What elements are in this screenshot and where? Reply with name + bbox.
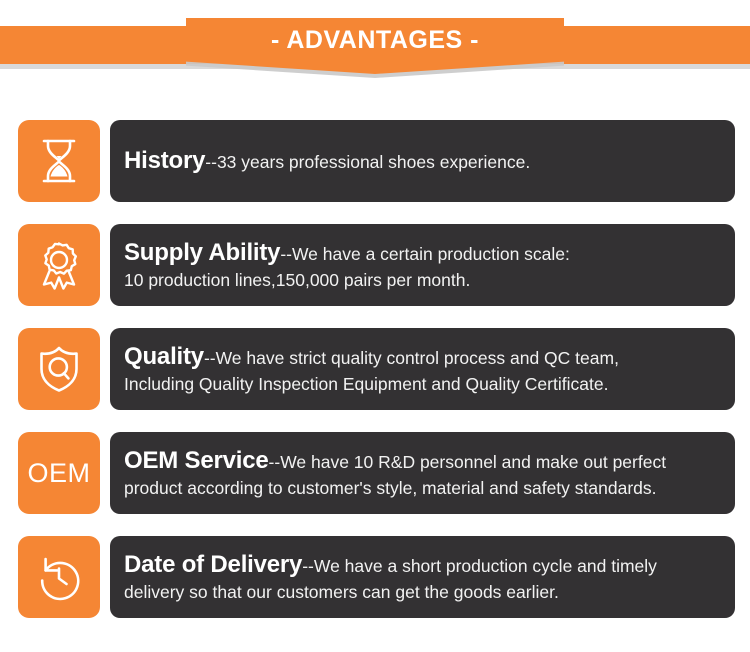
clock-history-icon xyxy=(35,553,83,601)
award-ribbon-icon xyxy=(35,240,83,290)
advantage-line1: We have 10 R&D personnel and make out pe… xyxy=(280,452,666,472)
page-title: - ADVANTAGES - xyxy=(186,18,564,62)
advantage-row-oem-service: OEM OEM Service--We have 10 R&D personne… xyxy=(0,432,750,514)
advantage-title: Quality xyxy=(124,343,204,370)
clock-history-icon-container xyxy=(18,536,100,618)
advantage-text-supply-ability: Supply Ability--We have a certain produc… xyxy=(124,238,721,291)
advantage-line1: 33 years professional shoes experience. xyxy=(217,152,530,172)
advantage-text-oem-service: OEM Service--We have 10 R&D personnel an… xyxy=(124,446,721,499)
advantage-text-bar: History--33 years professional shoes exp… xyxy=(110,120,735,202)
advantage-text-bar: Quality--We have strict quality control … xyxy=(110,328,735,410)
advantage-title: Date of Delivery xyxy=(124,551,302,578)
advantage-line2: product according to customer's style, m… xyxy=(124,477,721,499)
hourglass-icon-container xyxy=(18,120,100,202)
advantage-row-date-of-delivery: Date of Delivery--We have a short produc… xyxy=(0,536,750,618)
advantage-row-history: History--33 years professional shoes exp… xyxy=(0,120,750,202)
advantage-line1: We have a certain production scale: xyxy=(292,244,570,264)
advantage-text-quality: Quality--We have strict quality control … xyxy=(124,342,721,395)
advantage-text-history: History--33 years professional shoes exp… xyxy=(124,146,721,177)
advantage-row-quality: Quality--We have strict quality control … xyxy=(0,328,750,410)
shield-q-icon-container xyxy=(18,328,100,410)
advantage-text-bar: Date of Delivery--We have a short produc… xyxy=(110,536,735,618)
oem-text-icon-container: OEM xyxy=(18,432,100,514)
hourglass-icon xyxy=(37,137,81,185)
oem-text-icon: OEM xyxy=(27,458,90,489)
advantage-title: OEM Service xyxy=(124,447,269,474)
shield-q-icon xyxy=(36,345,82,393)
advantages-list: History--33 years professional shoes exp… xyxy=(0,120,750,640)
advantage-text-bar: OEM Service--We have 10 R&D personnel an… xyxy=(110,432,735,514)
advantage-separator: -- xyxy=(205,152,217,172)
advantage-row-supply-ability: Supply Ability--We have a certain produc… xyxy=(0,224,750,306)
advantage-text-date-of-delivery: Date of Delivery--We have a short produc… xyxy=(124,550,721,603)
advantages-header-banner: - ADVANTAGES - xyxy=(0,0,750,110)
advantage-line1: We have strict quality control process a… xyxy=(216,348,619,368)
advantage-line2: delivery so that our customers can get t… xyxy=(124,581,721,603)
advantage-separator: -- xyxy=(280,244,292,264)
advantage-title: History xyxy=(124,147,205,174)
advantage-title: Supply Ability xyxy=(124,239,280,266)
advantage-separator: -- xyxy=(204,348,216,368)
advantage-text-bar: Supply Ability--We have a certain produc… xyxy=(110,224,735,306)
advantage-line2: 10 production lines,150,000 pairs per mo… xyxy=(124,269,721,291)
advantage-separator: -- xyxy=(269,452,281,472)
advantage-separator: -- xyxy=(302,556,314,576)
advantage-line2: Including Quality Inspection Equipment a… xyxy=(124,373,721,395)
award-ribbon-icon-container xyxy=(18,224,100,306)
advantage-line1: We have a short production cycle and tim… xyxy=(314,556,657,576)
